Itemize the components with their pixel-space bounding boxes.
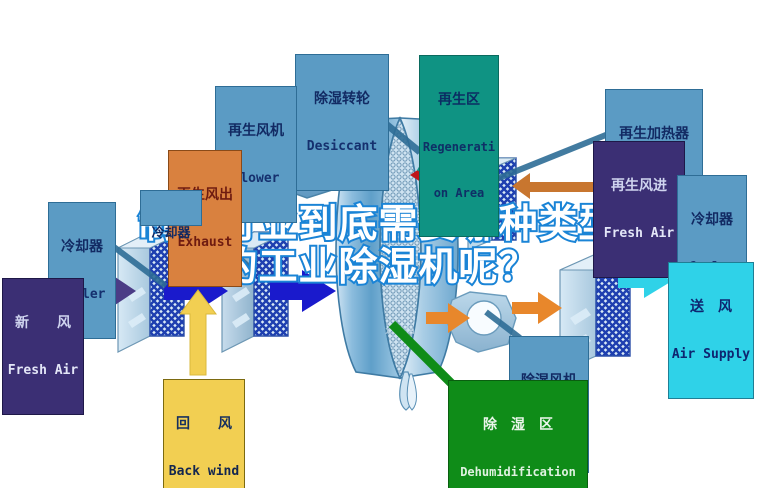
- label-regen-fresh-air-en: Fresh Air: [596, 227, 682, 241]
- label-fresh-air-en: Fresh Air: [5, 364, 81, 378]
- label-cooler-right-cn: 冷却器: [680, 213, 744, 228]
- label-back-wind-cn: 回 风: [166, 417, 242, 432]
- label-dehum-district-en-1: Dehumidification: [451, 466, 585, 479]
- label-regen-heater-cn: 再生加热器: [608, 127, 700, 142]
- label-dehum-district-cn: 除 湿 区: [451, 418, 585, 433]
- label-air-supply: 送 风 Air Supply: [668, 262, 754, 399]
- label-regen-area-cn: 再生区: [422, 93, 496, 108]
- dry-air-arrow-2: [512, 292, 562, 324]
- label-regen-blower-cn: 再生风机: [218, 124, 294, 139]
- label-fresh-air-cn: 新 风: [5, 316, 81, 331]
- diagram-canvas: xinda: [0, 0, 757, 488]
- label-back-wind: 回 风 Back wind: [163, 379, 245, 488]
- back-wind-arrow: [180, 290, 216, 375]
- label-regen-fresh-air-cn: 再生风进: [596, 179, 682, 194]
- label-back-wind-en: Back wind: [166, 465, 242, 479]
- label-regen-fresh-air: 再生风进 Fresh Air: [593, 141, 685, 278]
- label-dehum-district: 除 湿 区 Dehumidification District: [448, 380, 588, 488]
- label-air-supply-en: Air Supply: [671, 348, 751, 362]
- label-cooler-left-cn: 冷却器: [51, 240, 113, 255]
- label-cooler-mid: 冷却器: [140, 190, 202, 226]
- label-desiccant-cn: 除湿转轮: [298, 92, 386, 107]
- label-fresh-air: 新 风 Fresh Air: [2, 278, 84, 415]
- label-desiccant: 除湿转轮 Desiccant: [295, 54, 389, 191]
- label-air-supply-cn: 送 风: [671, 300, 751, 315]
- label-regen-area-en-1: Regenerati: [422, 141, 496, 154]
- label-regen-area-en-2: on Area: [422, 187, 496, 200]
- label-regen-area: 再生区 Regenerati on Area: [419, 55, 499, 237]
- label-desiccant-en: Desiccant: [298, 140, 386, 154]
- label-cooler-mid-cn: 冷却器: [143, 227, 199, 241]
